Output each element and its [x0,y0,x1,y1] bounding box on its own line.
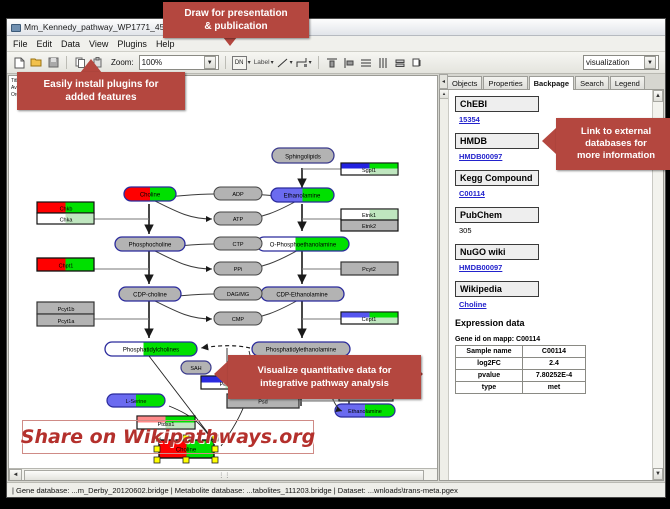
svg-text:PPi: PPi [234,267,243,273]
table-row: Sample name C00114 [456,346,586,358]
gene-id-line: Gene id on mapp: C00114 [455,336,644,343]
row-key: type [456,382,523,394]
svg-text:Chkb: Chkb [60,207,73,213]
side-panel-tabs: ◂ Objects Properties Backpage Search Leg… [439,75,664,89]
svg-text:Choline: Choline [140,193,161,199]
title-bar: Mm_Kennedy_pathway_WP1771_45176.gpml [7,19,665,36]
tab-backpage[interactable]: Backpage [529,76,574,90]
pubchem-value: 305 [459,226,644,235]
chevron-down-icon[interactable]: ▼ [644,56,656,69]
align-top-icon[interactable] [325,56,339,70]
canvas-horizontal-scrollbar[interactable]: ◄ ⋮⋮ [9,468,437,480]
menu-item-plugins[interactable]: Plugins [117,39,147,49]
label-tool[interactable]: Label ▾ [254,59,274,66]
scroll-track[interactable]: ⋮⋮ [22,470,437,480]
svg-text:Sphingolipids: Sphingolipids [285,155,321,161]
table-row: pvalue 7.80252E-4 [456,370,586,382]
distribute-vertical-icon[interactable] [359,56,373,70]
menu-item-help[interactable]: Help [156,39,175,49]
chevron-down-icon[interactable]: ▾ [248,59,251,66]
svg-text:Phosphatidylethanolamine: Phosphatidylethanolamine [266,348,337,354]
callout-draw-line1: Draw for presentation [184,7,287,20]
distribute-horizontal-icon[interactable] [376,56,390,70]
scroll-thumb[interactable]: ⋮⋮ [24,470,424,482]
row-value: C00114 [523,346,586,358]
share-banner: Share on Wikipathways.org [22,420,314,454]
wikipedia-link[interactable]: Choline [459,300,644,309]
tab-objects[interactable]: Objects [447,76,482,89]
svg-text:ADP: ADP [232,192,244,198]
svg-text:Cept1: Cept1 [362,317,377,323]
toolbar-separator-2 [225,56,226,69]
new-file-icon[interactable] [12,56,26,70]
zoom-value: 100% [142,58,204,67]
svg-text:Phosphatidylcholines: Phosphatidylcholines [123,348,179,354]
menu-item-edit[interactable]: Edit [37,39,53,49]
zoom-label: Zoom: [111,58,134,67]
datanode-icon: DN [232,56,247,70]
svg-text:CMP: CMP [232,317,245,323]
app-icon [10,22,20,32]
svg-text:SAH: SAH [190,366,201,372]
svg-text:Psd: Psd [258,400,267,406]
nugo-wiki-header: NuGO wiki [455,244,539,260]
row-value: 2.4 [523,358,586,370]
callout-visualize-line2: integrative pathway analysis [260,377,389,390]
label-tool-caption: Label [254,59,270,66]
toolbar: Zoom: 100% ▼ DN ▾ Label ▾ ▾ ▾ [7,52,665,74]
connector-tool[interactable]: ▾ [296,57,312,68]
screenshot-root: Mm_Kennedy_pathway_WP1771_45176.gpml Fil… [0,0,670,509]
pathway-diagram[interactable]: Sphingolipids Choline Ethanolamine Phosp… [9,76,437,476]
row-value: met [523,382,586,394]
svg-text:Pcyt2: Pcyt2 [362,267,376,273]
svg-text:CDP-Ethanolamine: CDP-Ethanolamine [276,293,328,299]
svg-text:DAG/MG: DAG/MG [227,292,249,298]
visualization-combobox[interactable]: visualization ▼ [583,55,659,70]
tab-legend[interactable]: Legend [610,76,645,89]
row-key: pvalue [456,370,523,382]
chevron-down-icon[interactable]: ▾ [309,59,312,66]
chevron-down-icon[interactable]: ▼ [204,56,216,69]
menu-item-file[interactable]: File [13,39,28,49]
datanode-tool[interactable]: DN ▾ [232,56,251,70]
svg-text:CDP-choline: CDP-choline [133,293,167,299]
svg-text:Chka: Chka [60,218,74,224]
callout-link-line1: Link to external [581,126,651,138]
callout-link-arrow [542,128,556,154]
callout-link-line2: databases for [585,138,647,150]
callout-plugins: Easily install plugins for added feature… [17,72,185,110]
scroll-up-icon[interactable]: ▴ [440,90,448,99]
row-key: log2FC [456,358,523,370]
status-bar: | Gene database: ...m_Derby_20120602.bri… [7,482,665,497]
scroll-down-icon[interactable]: ▼ [653,468,663,480]
share-text: Share on Wikipathways.org [21,426,315,448]
tab-scroll-icon[interactable]: ◂ [439,74,448,89]
open-folder-icon[interactable] [29,56,43,70]
svg-text:Ethanolamine: Ethanolamine [348,409,382,415]
callout-draw-line2: & publication [204,20,267,33]
svg-text:Ethanolamine: Ethanolamine [284,194,321,200]
menu-bar: File Edit Data View Plugins Help [7,36,665,52]
callout-visualize-line1: Visualize quantitative data for [258,364,392,377]
menu-item-view[interactable]: View [89,39,108,49]
expression-table: Sample name C00114 log2FC 2.4 pvalue 7.8… [455,345,586,394]
table-row: type met [456,382,586,394]
chevron-down-icon[interactable]: ▾ [271,59,274,66]
callout-visualize: Visualize quantitative data for integrat… [228,355,421,399]
same-width-icon[interactable] [393,56,407,70]
callout-draw: Draw for presentation & publication [163,2,309,38]
save-icon[interactable] [46,56,60,70]
scroll-left-icon[interactable]: ◄ [9,469,22,481]
pubchem-header: PubChem [455,207,539,223]
connector-icon [296,57,308,68]
svg-text:Phosphocholine: Phosphocholine [129,243,172,249]
svg-text:Etnk2: Etnk2 [362,224,376,230]
align-left-icon[interactable] [342,56,356,70]
tab-properties[interactable]: Properties [483,76,527,89]
callout-plugins-line1: Easily install plugins for [43,78,158,91]
toolbar-separator [66,56,67,69]
kegg-compound-header: Kegg Compound [455,170,539,186]
nugo-wiki-link[interactable]: HMDB00097 [459,263,644,272]
menu-item-data[interactable]: Data [61,39,80,49]
callout-plugins-line2: added features [65,91,136,104]
visualization-value: visualization [586,58,644,67]
svg-text:Etnk1: Etnk1 [362,213,376,219]
svg-text:L-Serine: L-Serine [126,399,147,405]
status-text: | Gene database: ...m_Derby_20120602.bri… [12,486,458,495]
hmdb-header: HMDB [455,133,539,149]
callout-link-databases: Link to external databases for more info… [556,118,670,170]
toolbar-separator-3 [318,56,319,69]
svg-text:ATP: ATP [233,217,244,223]
svg-text:O-Phosphoethanolamine: O-Phosphoethanolamine [270,243,337,249]
scroll-up-icon[interactable]: ▲ [653,90,663,102]
chebi-header: ChEBI [455,96,539,112]
svg-text:Pcyt1a: Pcyt1a [58,319,76,325]
backpage-scrollbar[interactable]: ▴ [440,90,449,480]
callout-plugins-arrow [80,59,102,73]
svg-text:Chpt1: Chpt1 [59,264,74,270]
expression-data-title: Expression data [455,318,644,328]
bring-front-icon[interactable] [410,56,424,70]
table-row: log2FC 2.4 [456,358,586,370]
svg-text:Pcyt1b: Pcyt1b [58,307,75,313]
callout-link-line3: more information [577,150,655,162]
svg-text:Sgpl1: Sgpl1 [362,168,376,174]
chevron-down-icon[interactable]: ▾ [290,59,293,66]
tab-search[interactable]: Search [575,76,609,89]
line-icon [277,58,289,68]
zoom-combobox[interactable]: 100% ▼ [139,55,219,70]
row-value: 7.80252E-4 [523,370,586,382]
row-key: Sample name [456,346,523,358]
wikipedia-header: Wikipedia [455,281,539,297]
callout-visualize-arrow-left [214,361,228,387]
svg-text:CTP: CTP [233,242,244,248]
line-tool[interactable]: ▾ [277,58,293,68]
kegg-compound-link[interactable]: C00114 [459,189,644,198]
